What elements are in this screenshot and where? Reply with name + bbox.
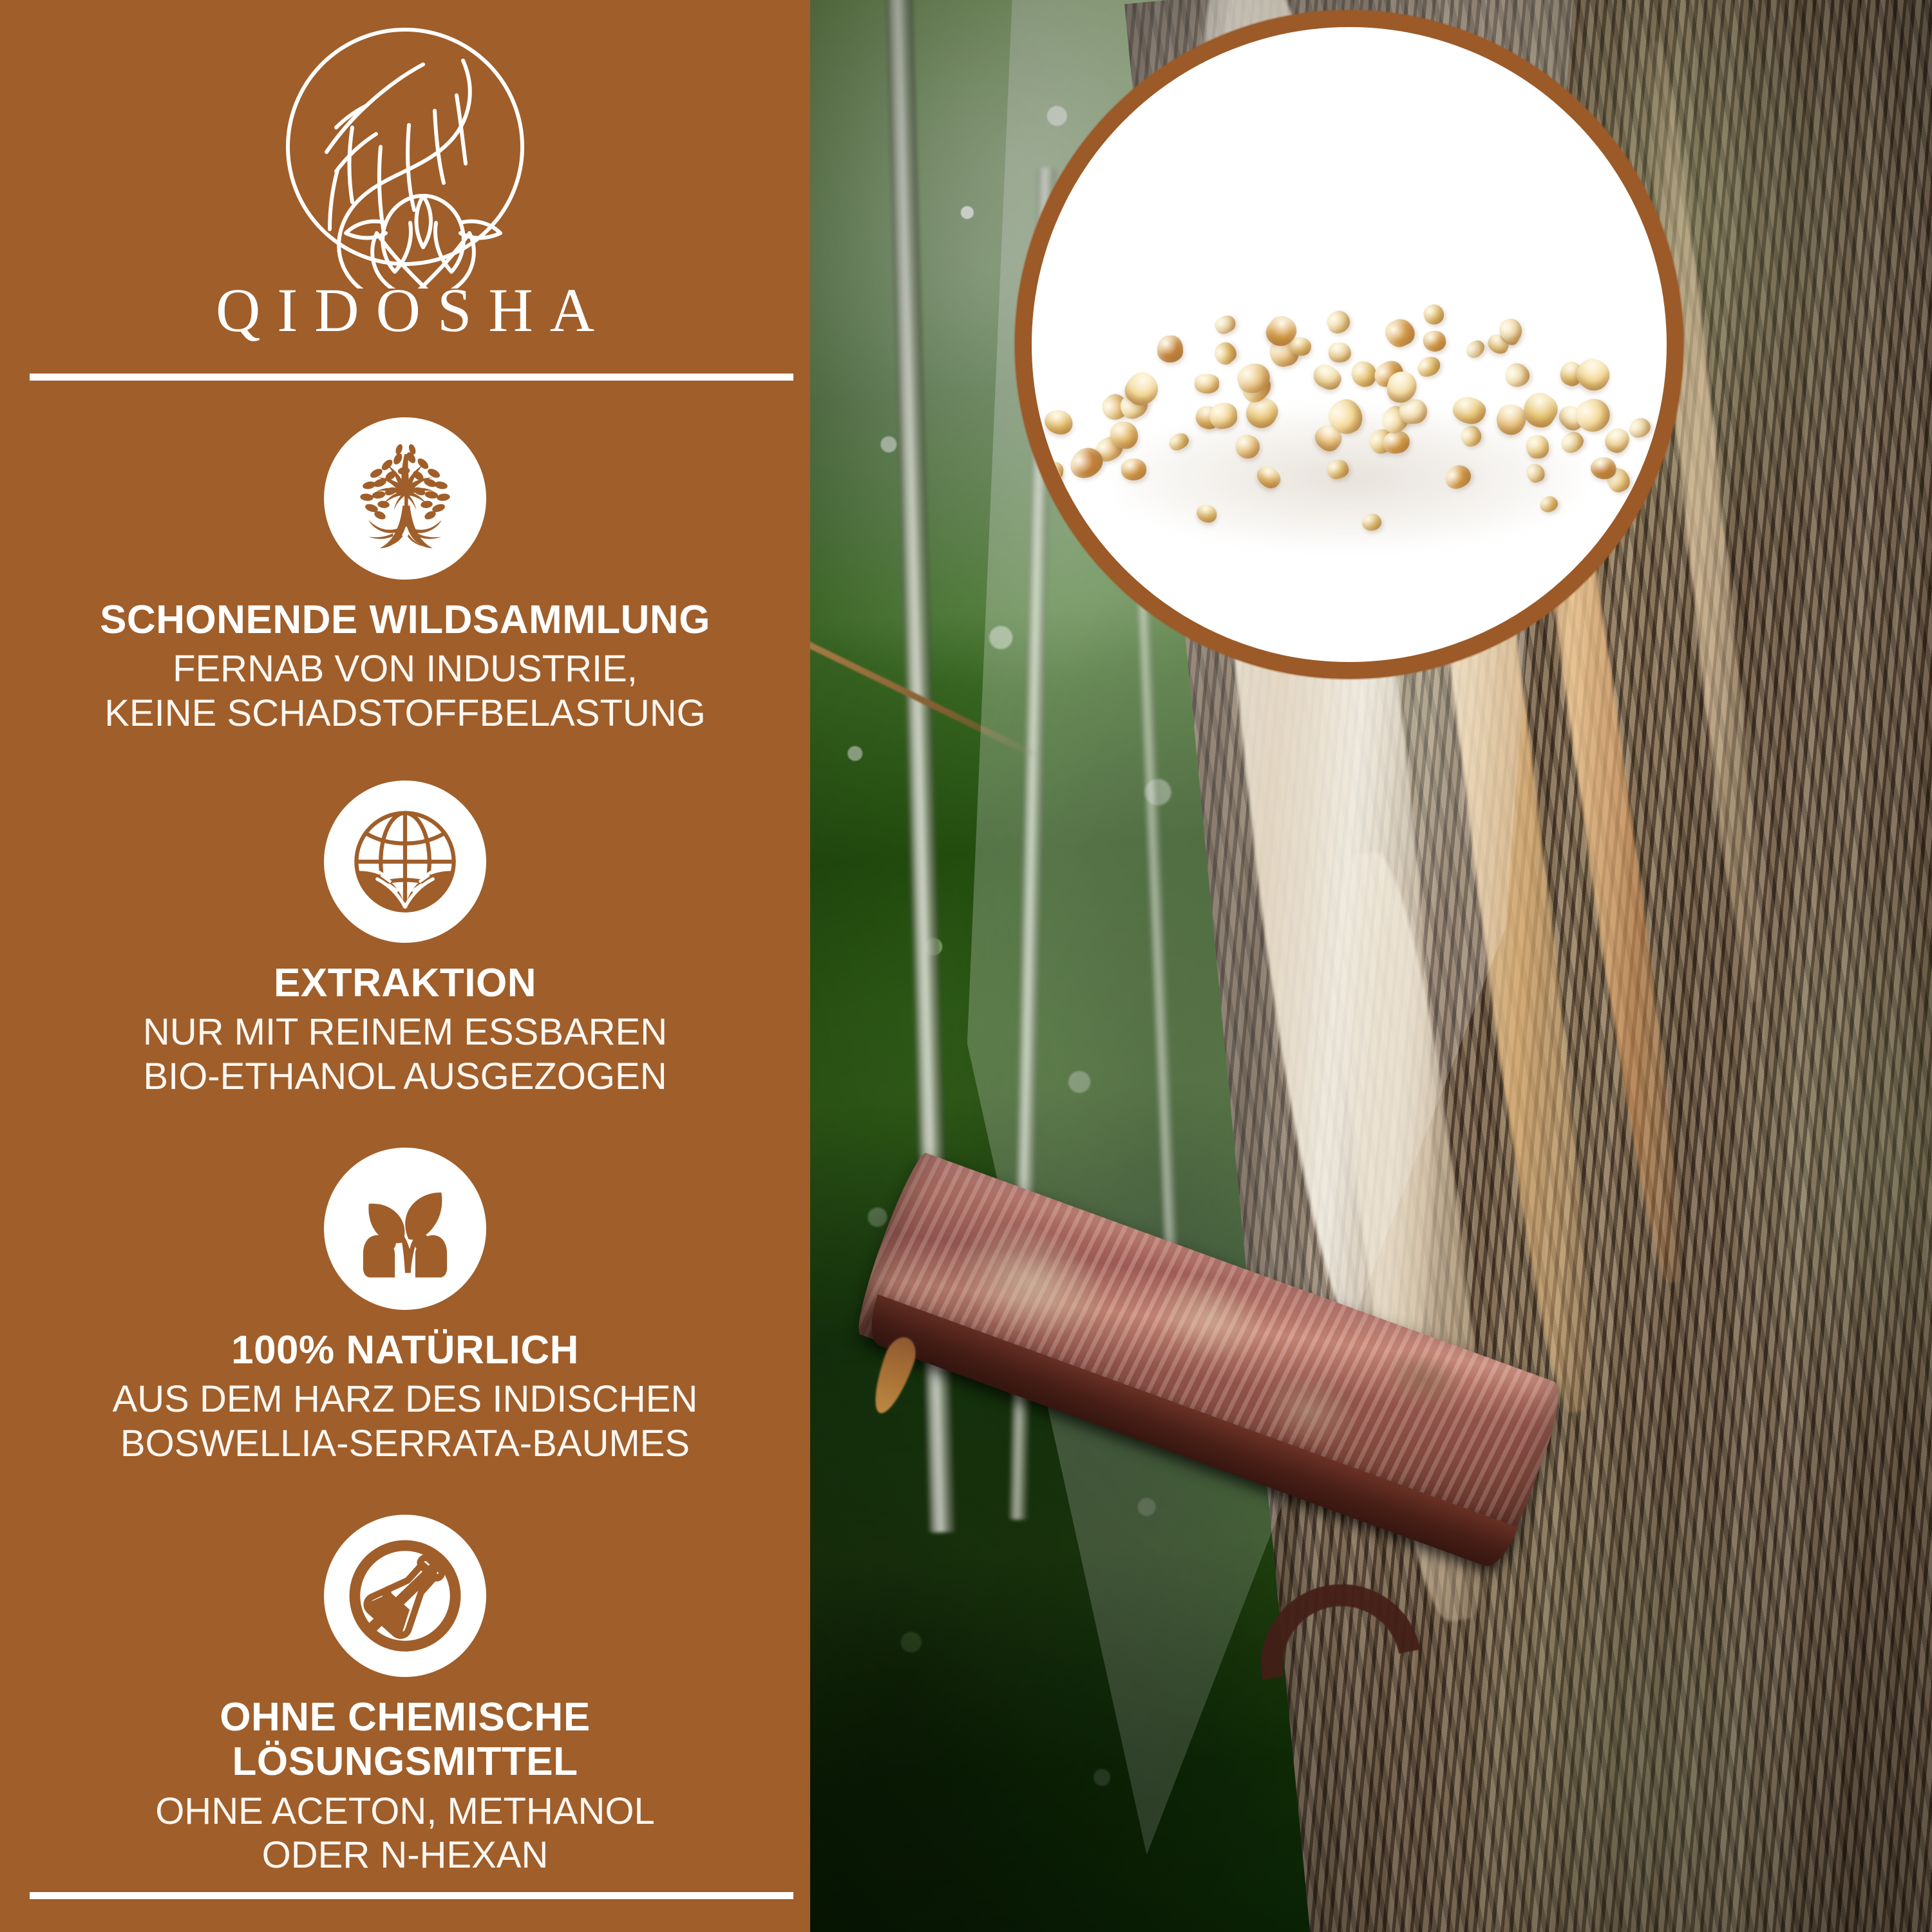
resin-granule xyxy=(1195,374,1220,393)
resin-granule xyxy=(1309,361,1345,393)
feature-title: OHNE CHEMISCHE LÖSUNGSMITTEL xyxy=(0,1695,810,1785)
resin-inset-circle xyxy=(1015,10,1683,679)
resin-granule xyxy=(1327,341,1352,364)
resin-granule xyxy=(1166,430,1191,453)
brand-wordmark: QIDOSHA xyxy=(0,278,810,343)
hands-sprout-icon xyxy=(324,1148,486,1310)
feature-title: 100% NATÜRLICH xyxy=(0,1328,810,1372)
leaf-lotus-circle-logo-icon xyxy=(270,18,540,289)
resin-granule xyxy=(1423,330,1447,353)
product-photo xyxy=(810,0,1932,1932)
info-panel: QIDOSHA xyxy=(0,0,810,1932)
resin-granule xyxy=(1571,394,1615,437)
resin-granule xyxy=(1324,308,1353,337)
resin-granule xyxy=(1041,406,1076,438)
feature-subtitle: AUS DEM HARZ DES INDISCHEN BOSWELLIA-SER… xyxy=(0,1378,810,1466)
resin-granule xyxy=(1602,425,1632,456)
feature-subtitle: OHNE ACETON, METHANOL ODER N-HEXAN xyxy=(0,1790,810,1878)
resin-granule xyxy=(1451,395,1486,425)
resin-granule xyxy=(1501,359,1533,392)
resin-granule xyxy=(1625,415,1654,441)
resin-granule xyxy=(1211,338,1241,368)
resin-granule xyxy=(1518,388,1563,433)
feature-item: 100% NATÜRLICH AUS DEM HARZ DES INDISCHE… xyxy=(0,1148,810,1466)
resin-granule xyxy=(1157,335,1183,363)
infographic-root: QIDOSHA xyxy=(0,0,1932,1932)
no-chemicals-icon xyxy=(324,1515,486,1677)
resin-granule xyxy=(1458,422,1485,450)
divider-top xyxy=(30,374,793,381)
resin-granule xyxy=(1571,354,1615,396)
feature-title: SCHONENDE WILDSAMMLUNG xyxy=(0,598,810,642)
divider-bottom xyxy=(30,1892,793,1899)
tree-of-life-icon xyxy=(324,417,486,580)
resin-granule xyxy=(1037,466,1061,486)
resin-granule xyxy=(1558,428,1587,457)
resin-granule xyxy=(1422,303,1446,327)
feature-item: SCHONENDE WILDSAMMLUNG FERNAB VON INDUST… xyxy=(0,417,810,735)
resin-granule xyxy=(1415,354,1444,381)
resin-granule xyxy=(1441,461,1475,493)
resin-granule xyxy=(1538,494,1560,515)
feature-title: EXTRAKTION xyxy=(0,961,810,1005)
resin-granule xyxy=(1213,312,1238,337)
resin-granule xyxy=(1253,462,1283,492)
globe-leaves-icon xyxy=(324,781,486,943)
feature-item: OHNE CHEMISCHE LÖSUNGSMITTEL OHNE ACETON… xyxy=(0,1515,810,1878)
resin-granule xyxy=(1194,502,1220,526)
feature-subtitle: FERNAB VON INDUSTRIE, KEINE SCHADSTOFFBE… xyxy=(0,647,810,735)
resin-granule xyxy=(1325,458,1351,482)
feature-item: EXTRAKTION NUR MIT REINEM ESSBAREN BIO-E… xyxy=(0,781,810,1099)
resin-granule xyxy=(1526,435,1549,458)
feature-subtitle: NUR MIT REINEM ESSBAREN BIO-ETHANOL AUSG… xyxy=(0,1010,810,1099)
resin-granule xyxy=(1463,337,1488,361)
resin-granule xyxy=(1524,461,1547,485)
resin-granule xyxy=(1121,459,1146,481)
resin-granules xyxy=(1032,307,1667,522)
resin-granule xyxy=(1235,434,1261,460)
resin-granule xyxy=(1381,315,1418,352)
